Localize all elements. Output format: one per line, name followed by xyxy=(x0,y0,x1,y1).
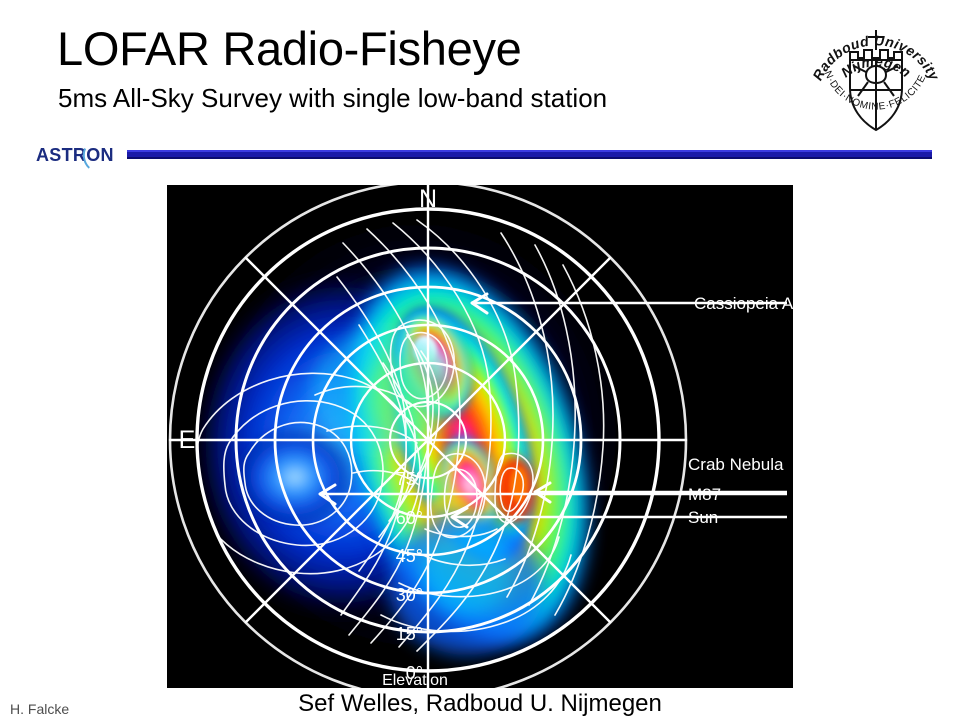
compass-label-east: E xyxy=(179,426,196,454)
radial-axis-label: Elevation xyxy=(382,672,448,688)
radial-tick-75: 75° xyxy=(396,469,423,489)
annotation-label-cassiopeia-a: Cassiopeia A xyxy=(694,294,793,313)
astron-logo: ASTRON xyxy=(36,144,128,166)
header-divider-rule xyxy=(127,150,932,159)
radial-tick-30: 30° xyxy=(396,585,423,605)
footer-author: H. Falcke xyxy=(10,701,69,717)
figure-caption: Sef Welles, Radboud U. Nijmegen xyxy=(0,690,960,718)
annotation-label-sun: Sun xyxy=(688,508,718,527)
radial-tick-45: 45° xyxy=(396,546,423,566)
radboud-seal-icon: Radboud University Nijmegen IN·DEI·NOMIN… xyxy=(806,4,946,144)
slide-root: LOFAR Radio-Fisheye 5ms All-Sky Survey w… xyxy=(0,0,960,720)
page-subtitle: 5ms All-Sky Survey with single low-band … xyxy=(58,83,607,113)
annotation-label-crab-nebula: Crab Nebula xyxy=(688,455,784,474)
radboud-university-logo: Radboud University Nijmegen IN·DEI·NOMIN… xyxy=(806,4,946,144)
allsky-skymap: N E 75° 60° 45° 30° 15° 0° Elevation xyxy=(167,185,793,688)
allsky-figure-panel: N E 75° 60° 45° 30° 15° 0° Elevation xyxy=(167,185,793,688)
page-title: LOFAR Radio-Fisheye xyxy=(57,22,521,76)
annotation-label-m87: M87 xyxy=(688,485,721,504)
radial-tick-60: 60° xyxy=(396,508,423,528)
radial-tick-15: 15° xyxy=(396,624,423,644)
compass-label-north: N xyxy=(419,185,437,213)
